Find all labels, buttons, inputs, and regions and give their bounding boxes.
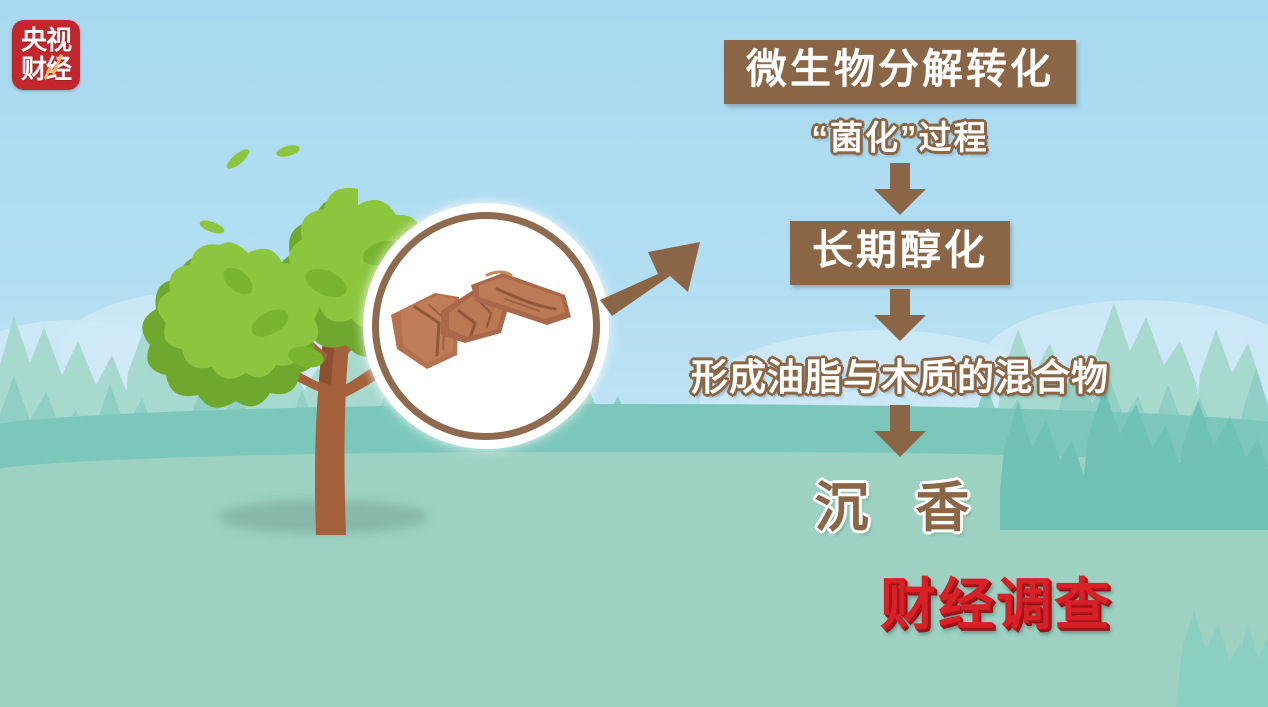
flow-step-1: 微生物分解转化	[640, 40, 1160, 104]
flow-step-3-label: 形成油脂与木质的混合物	[640, 347, 1160, 401]
magnifier-ring	[372, 212, 600, 440]
scene-root: 微生物分解转化 “菌化”过程 长期醇化 形成油脂与木质的混合物 沉 香 央视 财…	[0, 0, 1268, 707]
flow-step-1-subtitle: “菌化”过程	[640, 111, 1160, 159]
process-flow: 微生物分解转化 “菌化”过程 长期醇化 形成油脂与木质的混合物 沉 香	[640, 40, 1160, 542]
flow-step-2: 长期醇化	[640, 221, 1160, 285]
down-arrow-icon	[872, 405, 928, 459]
flow-step-2-label[interactable]: 长期醇化	[790, 221, 1010, 285]
logo-text-line-2: 财经	[12, 54, 80, 84]
bottom-right-pine-cluster	[1176, 575, 1268, 707]
logo-text-line-1: 央视	[12, 25, 80, 55]
down-arrow-icon	[872, 289, 928, 343]
program-watermark: 财经调查	[880, 560, 1160, 641]
flow-step-4-label: 沉 香	[640, 463, 1160, 542]
wood-chips-magnifier[interactable]	[372, 212, 600, 440]
flow-step-1-label[interactable]: 微生物分解转化	[724, 40, 1076, 104]
cctv-finance-logo[interactable]: 央视 财经	[12, 20, 80, 90]
down-arrow-icon	[872, 163, 928, 217]
